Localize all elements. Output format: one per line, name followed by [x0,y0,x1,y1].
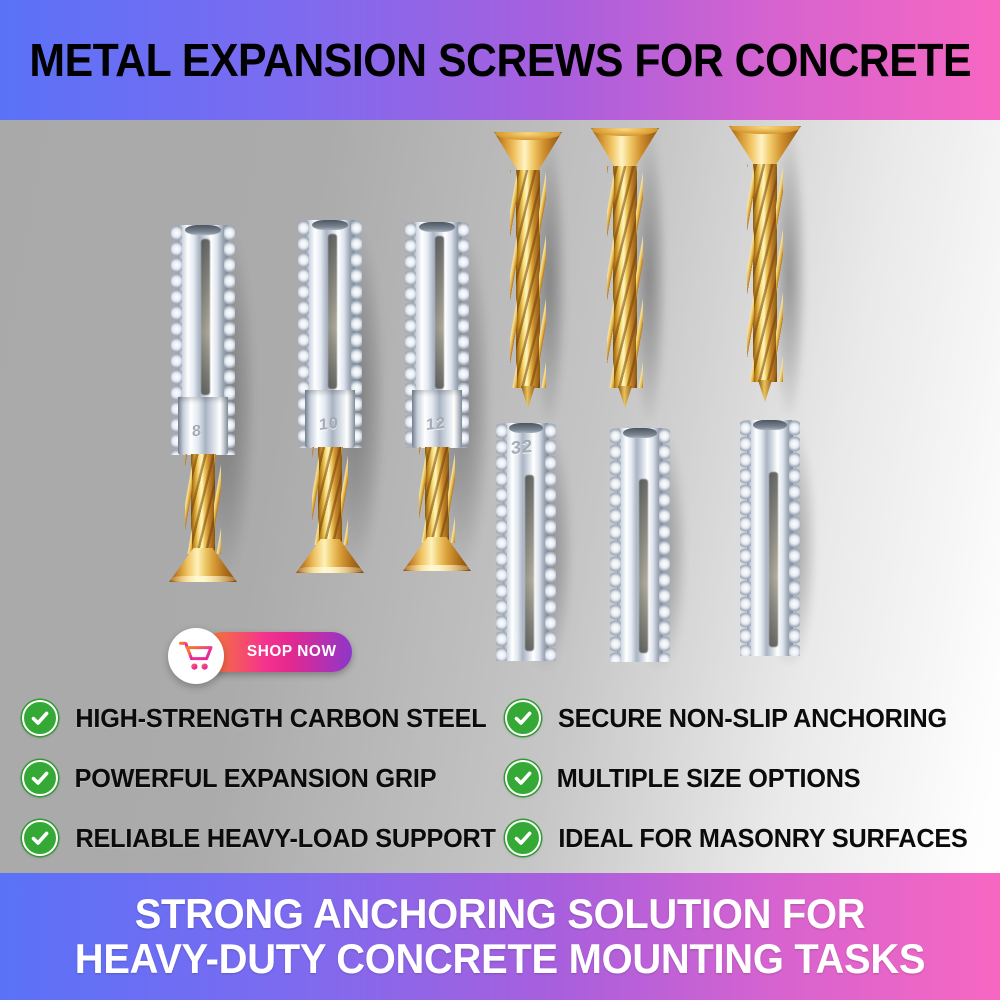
sleeve-collar: 8 [178,397,228,455]
shop-now-label: SHOP NOW [246,643,336,661]
sleeve-size-stamp: 8 [192,422,202,441]
page-title: METAL EXPANSION SCREWS FOR CONCRETE [29,37,971,83]
sleeve-mouth [185,225,221,235]
sleeve-slot [201,239,210,395]
feature-item: SECURE NON-SLIP ANCHORING [505,690,975,746]
check-circle-icon [505,700,541,736]
shopping-cart-icon[interactable] [168,628,224,684]
feature-item: MULTIPLE SIZE OPTIONS [505,750,975,806]
feature-list: HIGH-STRENGTH CARBON STEEL POWERFUL EXPA… [0,690,1000,870]
header-banner: METAL EXPANSION SCREWS FOR CONCRETE [0,0,1000,120]
feature-label: POWERFUL EXPANSION GRIP [75,763,437,794]
shop-now-pill[interactable]: SHOP NOW [202,632,352,672]
sleeve-size-stamp: 12 [426,415,446,435]
shop-now-button[interactable]: SHOP NOW [168,628,352,676]
screw-tip [758,380,772,402]
footer-tagline: STRONG ANCHORING SOLUTION FOR HEAVY-DUTY… [73,892,928,981]
feature-label: HIGH-STRENGTH CARBON STEEL [75,703,486,734]
feature-column-left: HIGH-STRENGTH CARBON STEEL POWERFUL EXPA… [22,690,492,870]
feature-item: POWERFUL EXPANSION GRIP [22,750,492,806]
check-circle-icon [22,760,58,796]
footer-banner: STRONG ANCHORING SOLUTION FOR HEAVY-DUTY… [0,873,1000,1000]
feature-item: RELIABLE HEAVY-LOAD SUPPORT [22,810,492,866]
check-circle-icon [22,700,58,736]
feature-item: HIGH-STRENGTH CARBON STEEL [22,690,492,746]
feature-label: SECURE NON-SLIP ANCHORING [558,703,947,734]
check-circle-icon [505,760,541,796]
feature-item: IDEAL FOR MASONRY SURFACES [505,810,975,866]
feature-label: RELIABLE HEAVY-LOAD SUPPORT [75,823,495,854]
product-image-area: 8 10 [0,120,1000,620]
check-circle-icon [505,820,541,856]
sleeve-size-stamp: 10 [319,415,339,435]
check-circle-icon [22,820,58,856]
product-poster: METAL EXPANSION SCREWS FOR CONCRETE 8 [0,0,1000,1000]
feature-label: MULTIPLE SIZE OPTIONS [557,763,861,794]
feature-label: IDEAL FOR MASONRY SURFACES [558,823,967,854]
screw-tip [618,386,632,408]
sleeve-size-stamp: 32 [511,436,533,459]
feature-column-right: SECURE NON-SLIP ANCHORING MULTIPLE SIZE … [505,690,975,870]
